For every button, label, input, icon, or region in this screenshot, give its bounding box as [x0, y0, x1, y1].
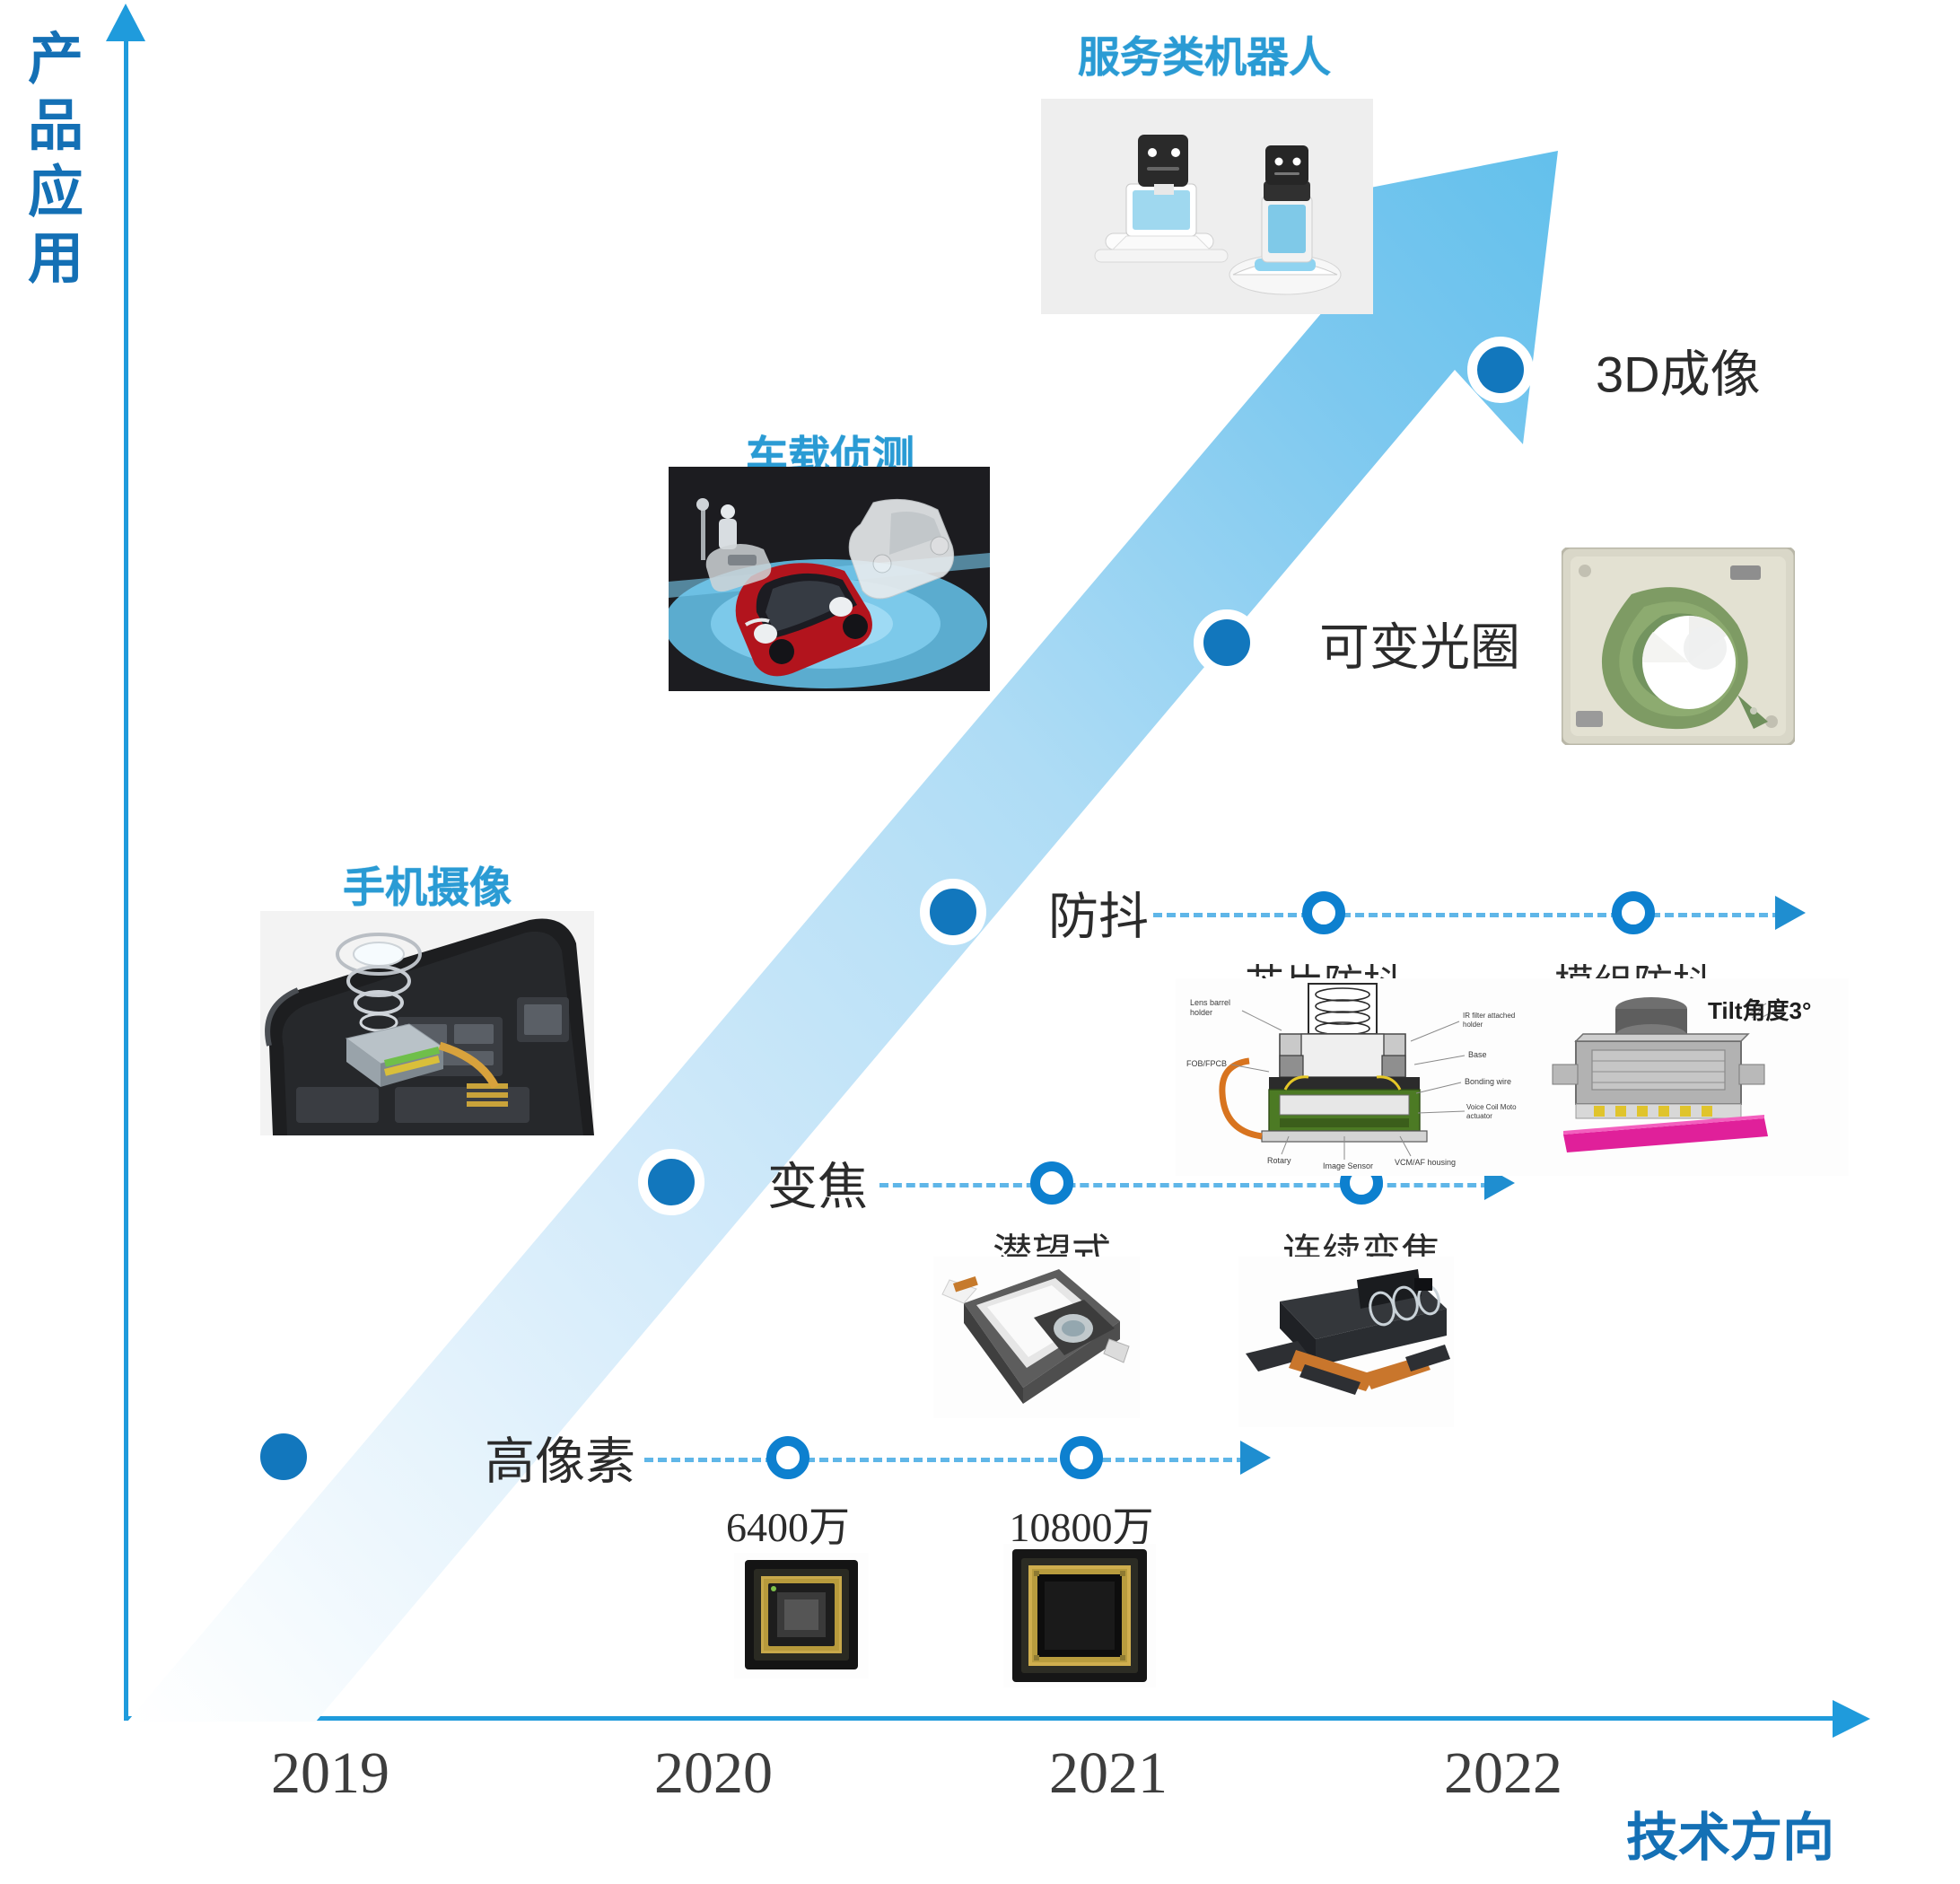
milestone-label-3d-imaging: 3D成像	[1596, 335, 1761, 407]
timeline-node-module-ois[interactable]	[1612, 891, 1655, 934]
photo-periscope	[933, 1257, 1140, 1418]
module-ois-tilt-label: Tilt角度3°	[1708, 993, 1811, 1026]
svg-text:holder: holder	[1190, 1008, 1212, 1017]
svg-text:holder: holder	[1463, 1021, 1483, 1029]
timeline-high-pixel	[644, 1458, 1246, 1462]
photo-sensor-64mp	[734, 1553, 869, 1678]
milestone-dot-variable-aperture[interactable]	[1194, 609, 1260, 676]
photo-service-robot	[1041, 99, 1373, 314]
timeline-node-108mp[interactable]	[1060, 1436, 1103, 1479]
svg-text:actuator: actuator	[1466, 1112, 1492, 1120]
timeline-arrowhead-ois	[1775, 896, 1806, 930]
timeline-zoom	[879, 1183, 1490, 1187]
photo-caption-service-robot: 服务类机器人	[1078, 22, 1331, 84]
timeline-node-64mp[interactable]	[766, 1436, 809, 1479]
svg-text:Base: Base	[1468, 1050, 1487, 1059]
photo-vehicle-detect	[669, 467, 990, 691]
milestone-label-zoom: 变焦	[767, 1147, 868, 1220]
svg-text:Bonding wire: Bonding wire	[1465, 1077, 1511, 1086]
svg-text:IR filter attached to the lens: IR filter attached to the lens	[1463, 1012, 1517, 1020]
x-axis-label: 技术方向	[1626, 1795, 1834, 1871]
y-axis-label: 产品应用	[13, 27, 99, 293]
x-tick-2020: 2020	[654, 1739, 773, 1808]
photo-phone-camera	[260, 911, 594, 1135]
milestone-dot-3d-imaging[interactable]	[1467, 337, 1534, 403]
timeline-arrowhead-high-pixel	[1240, 1441, 1271, 1475]
timeline-ois	[1153, 913, 1781, 917]
x-tick-2021: 2021	[1049, 1739, 1168, 1808]
timeline-node-periscope[interactable]	[1030, 1161, 1073, 1205]
milestone-label-high-pixel: 高像素	[485, 1422, 635, 1494]
milestone-dot-zoom[interactable]	[638, 1149, 704, 1215]
roadmap-canvas: 产品应用 技术方向 2019 2020 2021 2022 高像素 变焦 防抖 …	[0, 0, 1960, 1884]
x-tick-2022: 2022	[1444, 1739, 1562, 1808]
milestone-label-variable-aperture: 可变光圈	[1319, 608, 1520, 680]
milestone-dot-ois[interactable]	[920, 879, 986, 945]
photo-continuous-zoom	[1238, 1257, 1454, 1427]
svg-text:Rotary: Rotary	[1267, 1156, 1291, 1165]
photo-chip-ois: Lens barrel holder FOB/FPCB IR filter at…	[1176, 978, 1517, 1176]
svg-text:Voice Coil Motor (VCM): Voice Coil Motor (VCM)	[1466, 1103, 1517, 1111]
svg-text:VCM/AF housing: VCM/AF housing	[1395, 1158, 1456, 1167]
svg-text:FOB/FPCB: FOB/FPCB	[1186, 1059, 1227, 1068]
svg-text:Lens barrel: Lens barrel	[1190, 998, 1230, 1007]
photo-sensor-108mp	[1003, 1544, 1156, 1687]
timeline-node-label-64mp: 6400万	[726, 1494, 850, 1554]
photo-variable-aperture	[1562, 548, 1795, 745]
milestone-label-ois: 防抖	[1048, 877, 1149, 950]
svg-text:Image Sensor: Image Sensor	[1323, 1161, 1373, 1170]
milestone-dot-high-pixel[interactable]	[250, 1424, 317, 1490]
x-tick-2019: 2019	[271, 1739, 389, 1808]
timeline-node-chip-ois[interactable]	[1302, 891, 1345, 934]
photo-caption-phone-camera: 手机摄像	[343, 853, 512, 915]
